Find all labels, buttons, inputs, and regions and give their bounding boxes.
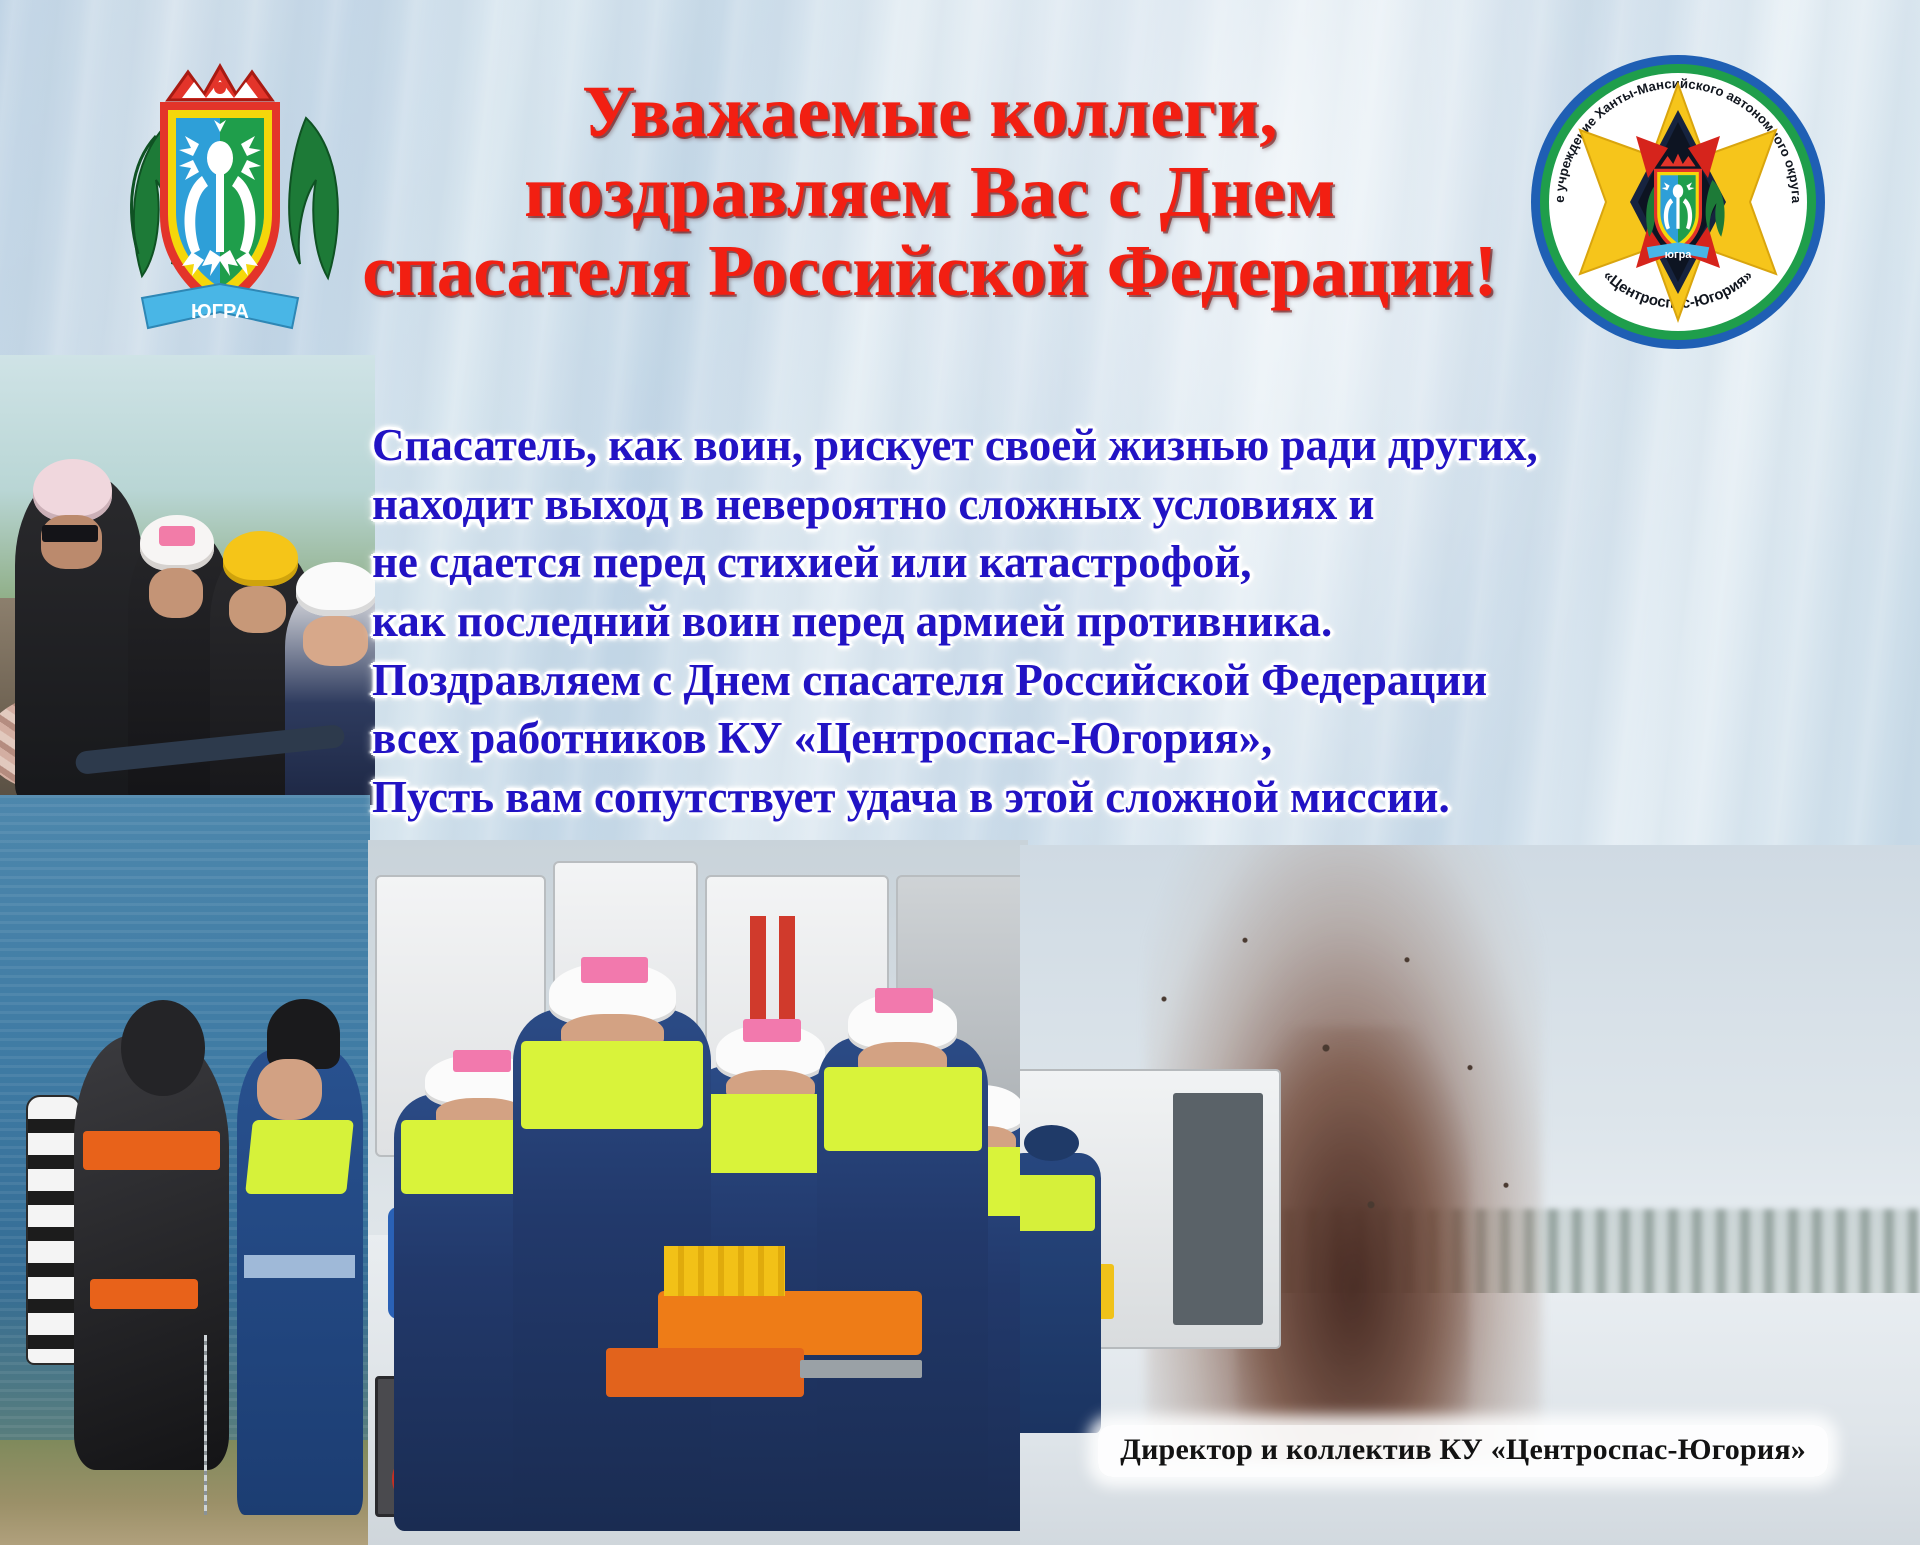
body-line-3: не сдается перед стихией или катастрофой… bbox=[372, 535, 1662, 590]
body-line-6: всех работников КУ «Центроспас-Югория», bbox=[372, 711, 1662, 766]
headline-line-2: поздравляем Вас с Днем bbox=[330, 152, 1530, 232]
body-line-4: как последний воин перед армией противни… bbox=[372, 594, 1662, 649]
centrospas-ugoria-emblem-icon: Казенное учреждение Ханты-Мансийского ав… bbox=[1528, 52, 1828, 352]
body-line-1: Спасатель, как воин, рискует своей жизнь… bbox=[372, 418, 1662, 473]
headline-line-1: Уважаемые коллеги, bbox=[330, 72, 1530, 152]
headline-line-3: спасателя Российской Федерации! bbox=[330, 231, 1530, 311]
photo-climbers: rescuers-in-helmets-pulling-rope bbox=[0, 355, 375, 805]
body-line-5: Поздравляем с Днем спасателя Российской … bbox=[372, 653, 1662, 708]
greeting-poster: rescuers-in-helmets-pulling-rope diver-a… bbox=[0, 0, 1920, 1545]
photo-rescuers: rescue-team-carrying-equipment-in-snow bbox=[368, 840, 1028, 1545]
body-line-2: находит выход в невероятно сложных услов… bbox=[372, 477, 1662, 532]
greeting-body: Спасатель, как воин, рискует своей жизнь… bbox=[372, 418, 1662, 829]
photo-divers: diver-and-tender-at-waterside bbox=[0, 795, 370, 1545]
coat-of-arms-icon: ЮГРА bbox=[96, 40, 346, 340]
headline: Уважаемые коллеги, поздравляем Вас с Дне… bbox=[330, 72, 1530, 311]
body-line-7: Пусть вам сопутствует удача в этой сложн… bbox=[372, 770, 1662, 825]
coat-of-arms-ribbon-text: ЮГРА bbox=[191, 301, 249, 323]
emblem-inner-ribbon-text: югра bbox=[1665, 249, 1693, 261]
signature-line: Директор и коллектив КУ «Центроспас-Югор… bbox=[1098, 1425, 1828, 1477]
